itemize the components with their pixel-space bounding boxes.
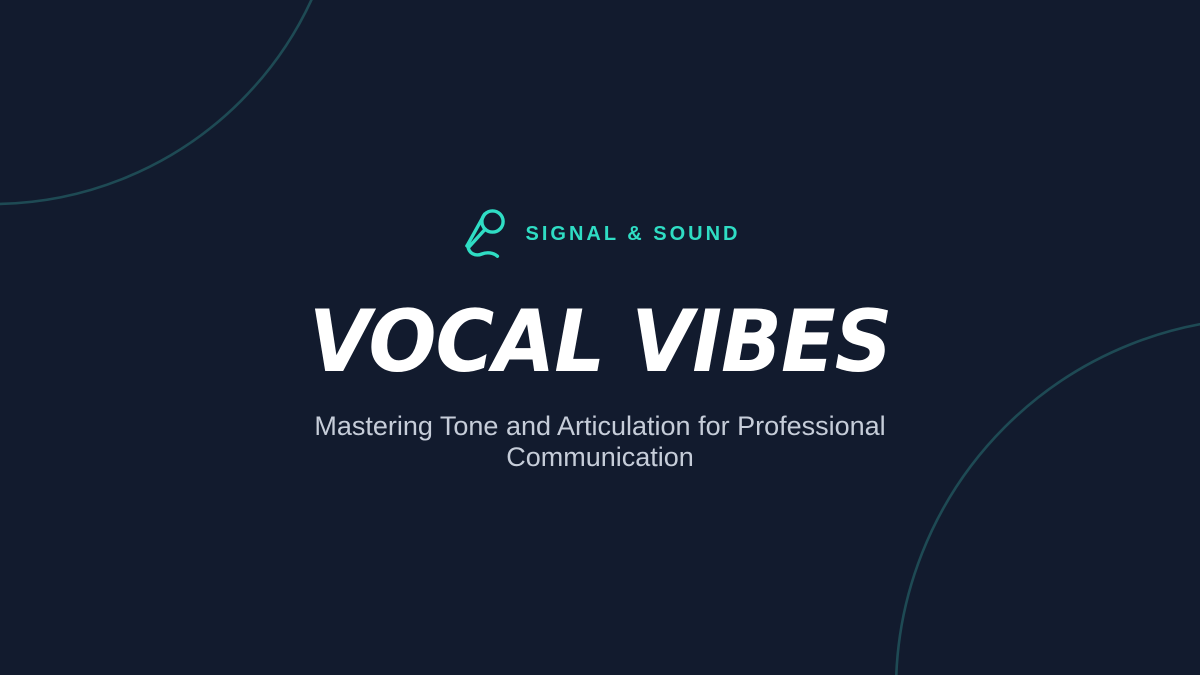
page-title: VOCAL VIBES bbox=[309, 299, 892, 385]
title-slide: SIGNAL & SOUND VOCAL VIBES Mastering Ton… bbox=[0, 0, 1200, 675]
slide-subtitle: Mastering Tone and Articulation for Prof… bbox=[300, 411, 900, 473]
brand-lockup: SIGNAL & SOUND bbox=[460, 205, 741, 263]
slide-content: SIGNAL & SOUND VOCAL VIBES Mastering Ton… bbox=[0, 0, 1200, 675]
brand-name: SIGNAL & SOUND bbox=[526, 224, 741, 244]
microphone-icon bbox=[460, 206, 512, 262]
